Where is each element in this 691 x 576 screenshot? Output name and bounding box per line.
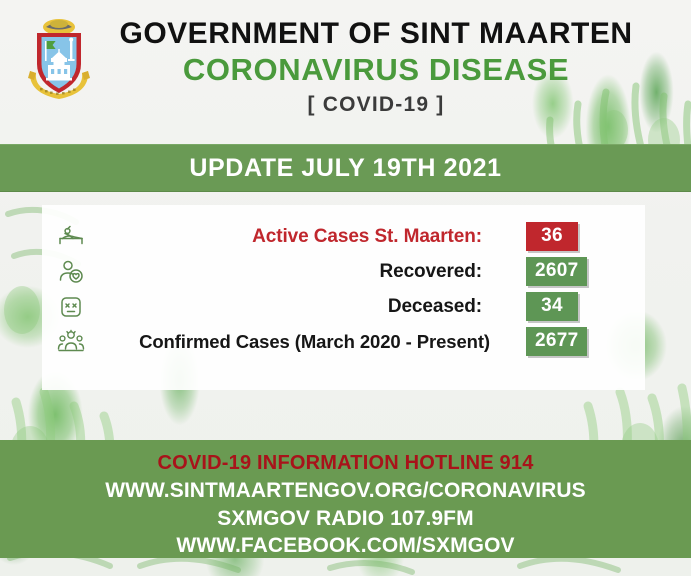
website-url[interactable]: WWW.SINTMAARTENGOV.ORG/CORONAVIRUS: [0, 477, 691, 505]
stat-label: Confirmed Cases (March 2020 - Present): [90, 331, 490, 353]
title-block: GOVERNMENT OF SINT MAARTEN CORONAVIRUS D…: [96, 18, 656, 117]
facebook-url[interactable]: WWW.FACEBOOK.COM/SXMGOV: [0, 532, 691, 560]
stat-value: 2607: [526, 257, 587, 286]
update-banner-text: UPDATE JULY 19TH 2021: [189, 154, 501, 183]
covid-tag: [ COVID-19 ]: [96, 92, 656, 117]
stat-value: 34: [526, 292, 578, 321]
stat-value: 36: [526, 222, 578, 251]
covid-update-poster: GOVERNMENT OF SINT MAARTEN CORONAVIRUS D…: [0, 0, 691, 576]
patient-in-bed-icon: [56, 222, 86, 252]
stat-label: Deceased:: [90, 296, 482, 318]
government-title: GOVERNMENT OF SINT MAARTEN: [96, 18, 656, 50]
deceased-face-icon: [56, 292, 86, 322]
stat-value: 2677: [526, 327, 587, 356]
disease-title: CORONAVIRUS DISEASE: [96, 52, 656, 89]
update-banner: UPDATE JULY 19TH 2021: [0, 144, 691, 192]
hotline-text: COVID-19 INFORMATION HOTLINE 914: [0, 450, 691, 477]
stat-row: Recovered: 2607: [42, 254, 645, 289]
poster-footer: COVID-19 INFORMATION HOTLINE 914 WWW.SIN…: [0, 440, 691, 558]
sint-maarten-coat-of-arms-icon: [26, 16, 92, 108]
group-of-people-icon: [56, 327, 86, 357]
radio-station: SXMGOV RADIO 107.9FM: [0, 505, 691, 533]
stat-row: Confirmed Cases (March 2020 - Present) 2…: [42, 324, 645, 359]
stat-label: Recovered:: [90, 261, 482, 283]
stat-row: Deceased: 34: [42, 289, 645, 324]
stat-row: Active Cases St. Maarten: 36: [42, 219, 645, 254]
statistics-panel: Active Cases St. Maarten: 36 Recovered: …: [42, 205, 645, 390]
poster-header: GOVERNMENT OF SINT MAARTEN CORONAVIRUS D…: [0, 0, 691, 142]
stat-label: Active Cases St. Maarten:: [90, 226, 482, 248]
recovered-person-heart-icon: [56, 257, 86, 287]
